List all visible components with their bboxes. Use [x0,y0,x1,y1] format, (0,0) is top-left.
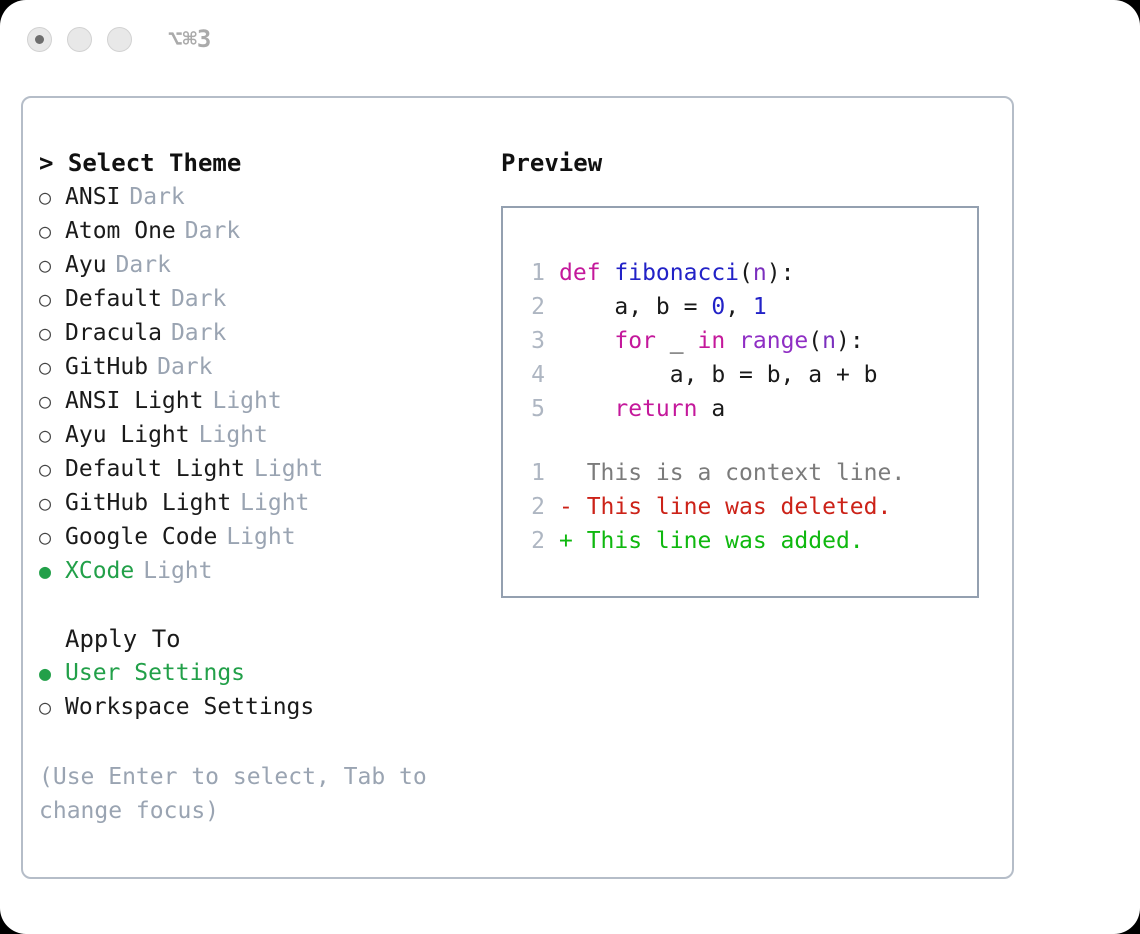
theme-option-ansi[interactable]: ○ANSIDark [39,180,479,214]
diff-line: 2- This line was deleted. [521,490,977,524]
diff-sample: 1 This is a context line.2- This line wa… [521,456,977,558]
code-token-keyword: in [697,328,725,354]
code-token-plain: ( [739,260,753,286]
radio-selected-icon: ● [39,554,65,588]
preview-heading: Preview [501,146,1001,180]
window-dot-active-icon[interactable] [27,27,52,52]
radio-unselected-icon: ○ [39,282,65,316]
code-line-text: a, b = b, a + b [559,358,878,392]
diff-line-text-deleted: - This line was deleted. [559,490,891,524]
section-spacer [39,588,479,622]
diff-line-text-added: + This line was added. [559,524,864,558]
theme-option-label: Atom One [65,214,176,248]
radio-unselected-icon: ○ [39,350,65,384]
code-line: 1def fibonacci(n): [521,256,977,290]
theme-option-kind: Dark [185,214,240,248]
theme-option-default-light[interactable]: ○Default LightLight [39,452,479,486]
line-number: 2 [521,490,545,524]
preview-box: 1def fibonacci(n):2 a, b = 0, 13 for _ i… [501,206,979,598]
line-number: 5 [521,392,545,426]
theme-selection-column: > Select Theme ○ANSIDark○Atom OneDark○Ay… [39,146,479,828]
code-token-variable: n [753,260,767,286]
code-line: 4 a, b = b, a + b [521,358,977,392]
preview-gap [521,426,977,456]
theme-option-list: ○ANSIDark○Atom OneDark○AyuDark○DefaultDa… [39,180,479,588]
radio-selected-icon: ● [39,656,65,690]
theme-option-kind: Light [143,554,212,588]
theme-option-kind: Dark [171,282,226,316]
theme-option-kind: Dark [157,350,212,384]
radio-unselected-icon: ○ [39,690,65,724]
line-number: 1 [521,456,545,490]
theme-option-dracula[interactable]: ○DraculaDark [39,316,479,350]
panel-columns: > Select Theme ○ANSIDark○Atom OneDark○Ay… [23,98,1012,877]
window-controls [27,27,132,52]
code-token-number: 0 [711,294,725,320]
code-token-number: 1 [753,294,767,320]
diff-line-text-context: This is a context line. [559,456,905,490]
code-token-call: range [739,328,808,354]
theme-picker-window: ⌥⌘3 > Select Theme ○ANSIDark○Atom OneDar… [0,0,1140,934]
code-line-text: return a [559,392,725,426]
theme-option-xcode[interactable]: ●XCodeLight [39,554,479,588]
theme-option-label: XCode [65,554,134,588]
main-panel: > Select Theme ○ANSIDark○Atom OneDark○Ay… [21,96,1014,879]
theme-option-kind: Light [254,452,323,486]
theme-option-kind: Dark [171,316,226,350]
theme-option-label: Ayu Light [65,418,190,452]
radio-unselected-icon: ○ [39,520,65,554]
diff-line: 2+ This line was added. [521,524,977,558]
code-token-plain: a, b = [559,294,711,320]
theme-option-github-light[interactable]: ○GitHub LightLight [39,486,479,520]
select-theme-heading: > Select Theme [39,146,479,180]
code-line-text: def fibonacci(n): [559,256,794,290]
code-token-plain: a [697,396,725,422]
keyboard-shortcut-label: ⌥⌘3 [168,27,211,51]
theme-option-label: Ayu [65,248,107,282]
theme-option-kind: Dark [129,180,184,214]
theme-option-ayu[interactable]: ○AyuDark [39,248,479,282]
code-token-plain: ): [836,328,864,354]
apply-to-option-list: ●User Settings○Workspace Settings [39,656,479,724]
code-sample: 1def fibonacci(n):2 a, b = 0, 13 for _ i… [521,256,977,426]
theme-option-label: ANSI [65,180,120,214]
theme-option-label: GitHub [65,350,148,384]
theme-option-kind: Light [240,486,309,520]
code-line: 2 a, b = 0, 1 [521,290,977,324]
radio-unselected-icon: ○ [39,316,65,350]
window-dot-inner [35,35,44,44]
preview-column: Preview 1def fibonacci(n):2 a, b = 0, 13… [501,146,1001,598]
code-line-text: for _ in range(n): [559,324,864,358]
code-token-plain: a, b = b, a + b [559,362,878,388]
code-token-plain [559,328,614,354]
theme-option-kind: Light [199,418,268,452]
code-token-keyword: return [614,396,697,422]
theme-option-kind: Light [212,384,281,418]
line-number: 3 [521,324,545,358]
radio-unselected-icon: ○ [39,248,65,282]
keyboard-hint-text: (Use Enter to select, Tab to change focu… [39,760,459,828]
code-token-plain: _ [656,328,698,354]
radio-unselected-icon: ○ [39,180,65,214]
theme-option-kind: Light [226,520,295,554]
radio-unselected-icon: ○ [39,418,65,452]
radio-unselected-icon: ○ [39,214,65,248]
code-line-text: a, b = 0, 1 [559,290,767,324]
code-token-plain [725,328,739,354]
line-number: 2 [521,524,545,558]
theme-option-label: Default [65,282,162,316]
theme-option-label: ANSI Light [65,384,203,418]
code-token-keyword: for [614,328,656,354]
code-token-plain [559,396,614,422]
diff-line: 1 This is a context line. [521,456,977,490]
code-token-function: fibonacci [614,260,739,286]
apply-to-heading: Apply To [39,622,479,656]
theme-option-ayu-light[interactable]: ○Ayu LightLight [39,418,479,452]
theme-option-github[interactable]: ○GitHubDark [39,350,479,384]
line-number: 1 [521,256,545,290]
apply-to-option-label: User Settings [65,656,245,690]
code-line: 3 for _ in range(n): [521,324,977,358]
window-titlebar: ⌥⌘3 [0,0,1140,78]
line-number: 4 [521,358,545,392]
theme-option-google-code[interactable]: ○Google CodeLight [39,520,479,554]
code-token-plain: ( [808,328,822,354]
theme-option-default[interactable]: ○DefaultDark [39,282,479,316]
theme-option-label: Google Code [65,520,217,554]
theme-option-label: Dracula [65,316,162,350]
theme-option-kind: Dark [116,248,171,282]
code-token-plain: , [725,294,753,320]
window-dot-second-icon[interactable] [67,27,92,52]
radio-unselected-icon: ○ [39,452,65,486]
code-token-variable: n [822,328,836,354]
window-dot-third-icon[interactable] [107,27,132,52]
theme-option-label: GitHub Light [65,486,231,520]
line-number: 2 [521,290,545,324]
apply-to-option-label: Workspace Settings [65,690,314,724]
code-token-keyword: def [559,260,614,286]
apply-to-option-workspace-settings[interactable]: ○Workspace Settings [39,690,479,724]
theme-option-ansi-light[interactable]: ○ANSI LightLight [39,384,479,418]
code-token-plain: ): [767,260,795,286]
theme-option-atom-one[interactable]: ○Atom OneDark [39,214,479,248]
radio-unselected-icon: ○ [39,486,65,520]
theme-option-label: Default Light [65,452,245,486]
radio-unselected-icon: ○ [39,384,65,418]
apply-to-option-user-settings[interactable]: ●User Settings [39,656,479,690]
code-line: 5 return a [521,392,977,426]
